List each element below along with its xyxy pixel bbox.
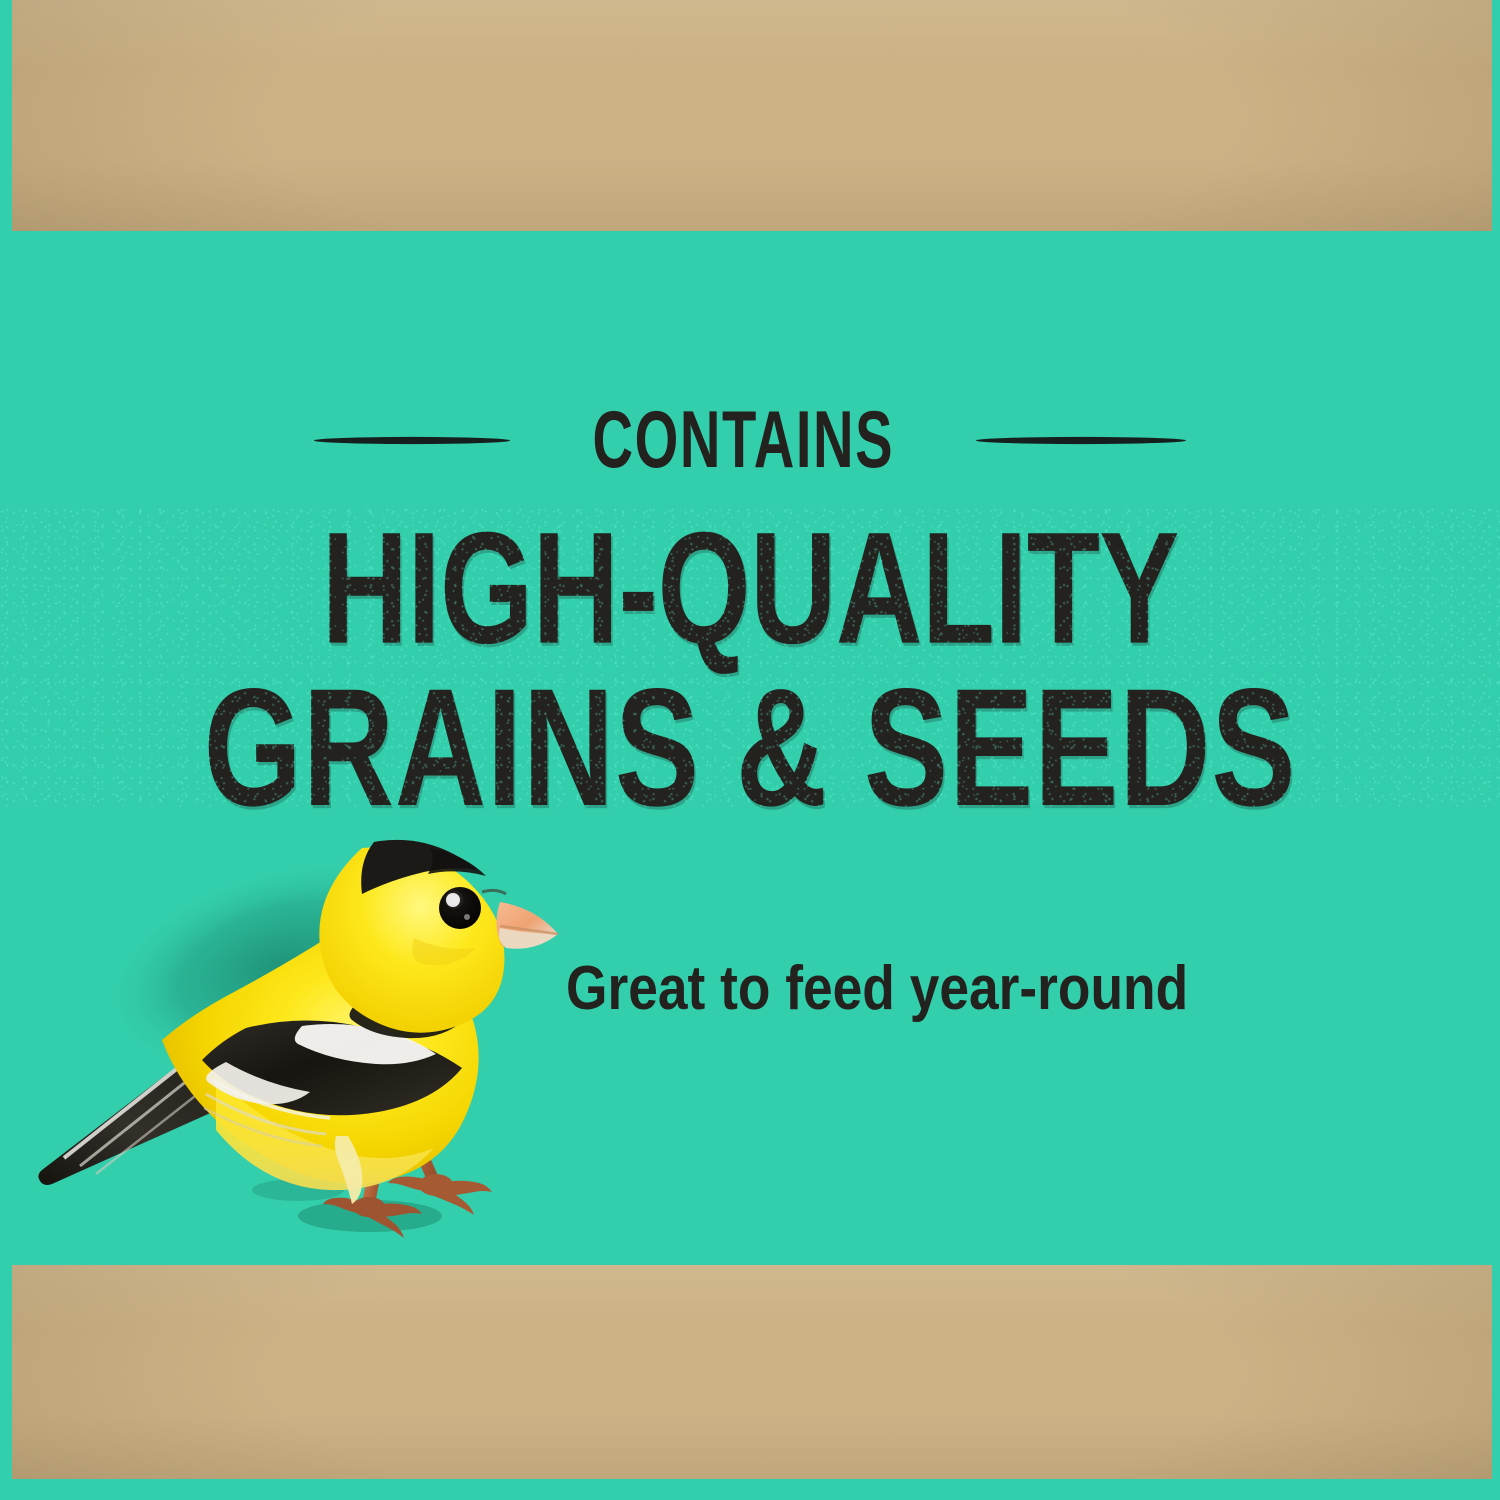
bird-eye [439, 887, 481, 929]
headline-line-1: HIGH-QUALITY [150, 508, 1350, 667]
decorative-dash-right-icon [976, 434, 1186, 447]
seed-vignette [12, 1265, 1492, 1479]
goldfinch-svg [30, 818, 560, 1260]
eyebrow-row: CONTAINS [0, 404, 1500, 476]
seed-vignette [12, 0, 1492, 231]
eyebrow-label: CONTAINS [592, 400, 894, 481]
headline-block: HIGH-QUALITY GRAINS & SEEDS [0, 508, 1500, 822]
tagline-text: Great to feed year-round [566, 958, 1188, 1020]
bird-beak [496, 902, 558, 949]
seed-photo-band-bottom [12, 1265, 1492, 1479]
seed-photo-band-top [12, 0, 1492, 231]
product-banner: CONTAINS HIGH-QUALITY GRAINS & SEEDS Gre… [0, 0, 1500, 1500]
goldfinch-illustration [30, 818, 560, 1260]
decorative-dash-left-icon [314, 434, 510, 447]
headline-line-2: GRAINS & SEEDS [150, 664, 1350, 831]
